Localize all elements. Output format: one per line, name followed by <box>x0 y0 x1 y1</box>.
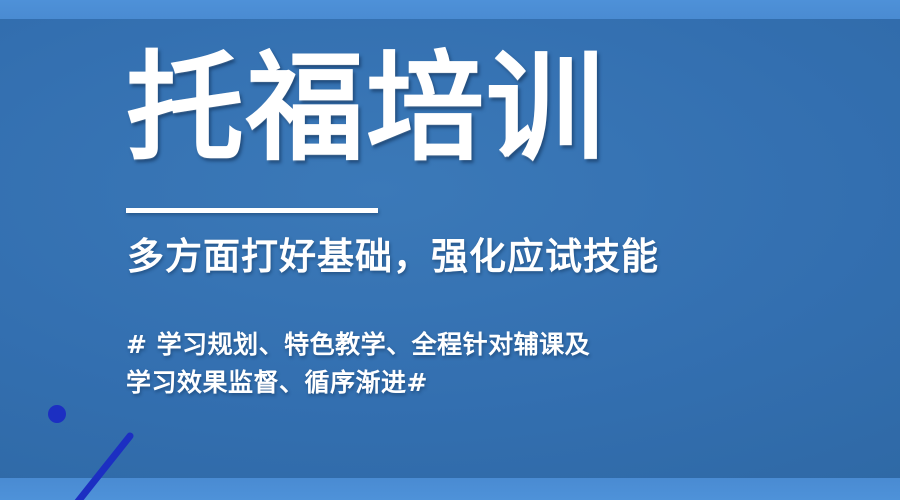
poster-tagline: # 学习规划、特色教学、全程针对辅课及 学习效果监督、循序渐进# <box>126 326 726 402</box>
promo-poster: 托福培训 多方面打好基础，强化应试技能 # 学习规划、特色教学、全程针对辅课及 … <box>0 0 900 500</box>
tagline-line-2: 学习效果监督、循序渐进# <box>126 364 726 402</box>
title-underline-rule <box>126 208 378 213</box>
poster-content: 托福培训 多方面打好基础，强化应试技能 # 学习规划、特色教学、全程针对辅课及 … <box>126 0 866 500</box>
poster-subtitle: 多方面打好基础，强化应试技能 <box>127 234 659 280</box>
page-title: 托福培训 <box>126 46 606 170</box>
decorative-dot-icon <box>48 405 66 423</box>
tagline-line-1: # 学习规划、特色教学、全程针对辅课及 <box>126 326 726 364</box>
